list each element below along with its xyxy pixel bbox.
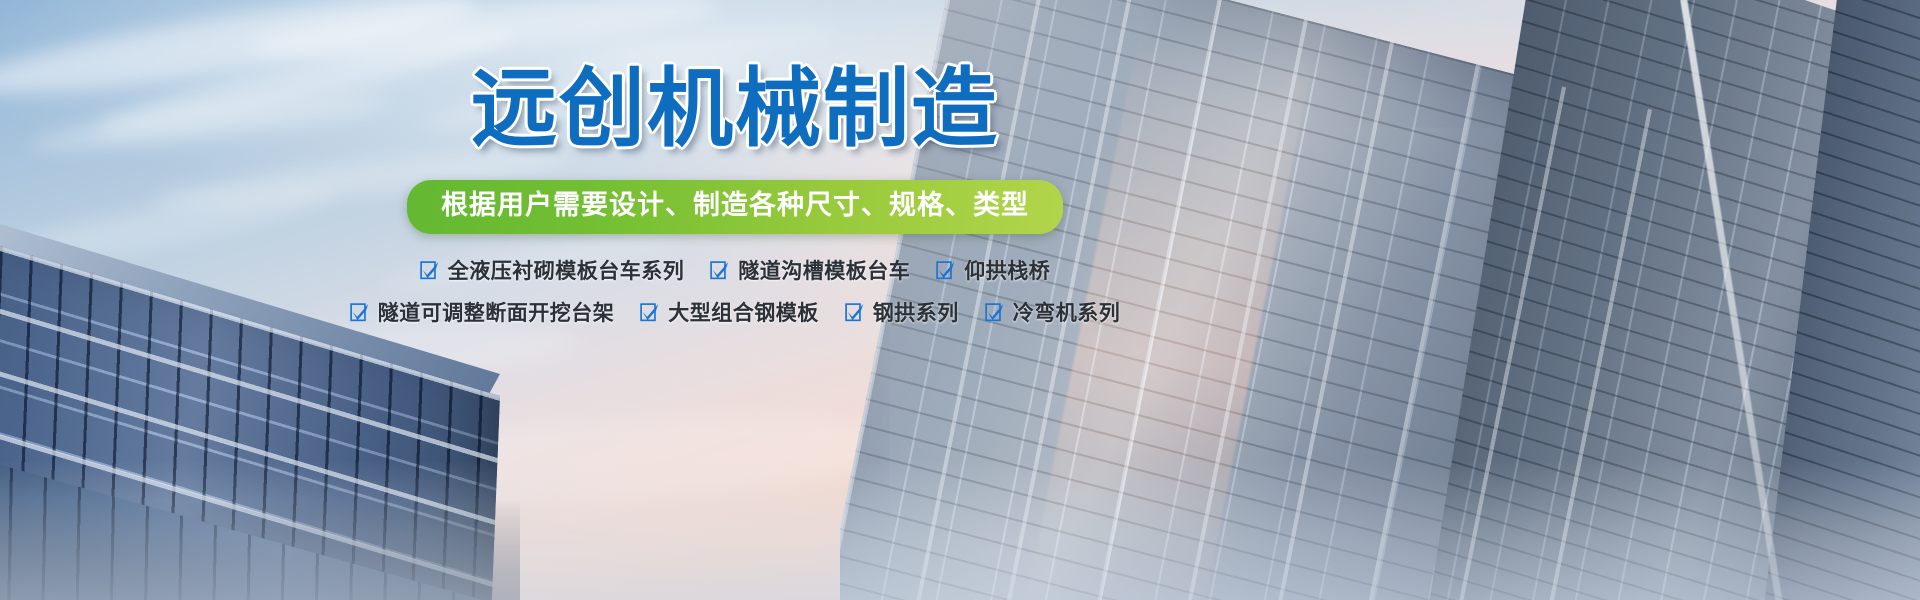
feature-item-label: 隧道沟槽模板台车 — [738, 255, 910, 285]
feature-item-label: 隧道可调整断面开挖台架 — [378, 297, 615, 327]
feature-item-label: 全液压衬砌模板台车系列 — [448, 255, 685, 285]
feature-item[interactable]: 隧道沟槽模板台车 — [710, 255, 910, 285]
checkbox-checked-icon — [420, 261, 439, 280]
feature-item[interactable]: 大型组合钢模板 — [640, 297, 819, 327]
feature-item[interactable]: 全液压衬砌模板台车系列 — [420, 255, 685, 285]
checkbox-checked-icon — [936, 261, 955, 280]
feature-item[interactable]: 仰拱栈桥 — [936, 255, 1050, 285]
banner-subtitle-container: 根据用户需要设计、制造各种尺寸、规格、类型 — [0, 180, 1470, 234]
feature-item-label: 仰拱栈桥 — [964, 255, 1050, 285]
checkbox-checked-icon — [350, 303, 369, 322]
feature-item-label: 大型组合钢模板 — [668, 297, 819, 327]
hero-banner: 远创机械制造 根据用户需要设计、制造各种尺寸、规格、类型 全液压衬砌模板台车系列 — [0, 0, 1920, 600]
checkbox-checked-icon — [845, 303, 864, 322]
feature-list: 全液压衬砌模板台车系列 隧道沟槽模板台车 仰拱栈桥 — [0, 255, 1470, 339]
banner-subtitle-pill: 根据用户需要设计、制造各种尺寸、规格、类型 — [407, 180, 1063, 234]
banner-content: 远创机械制造 根据用户需要设计、制造各种尺寸、规格、类型 全液压衬砌模板台车系列 — [0, 0, 1920, 600]
feature-item[interactable]: 钢拱系列 — [845, 297, 959, 327]
feature-item[interactable]: 冷弯机系列 — [985, 297, 1121, 327]
feature-item[interactable]: 隧道可调整断面开挖台架 — [350, 297, 615, 327]
feature-row-2: 隧道可调整断面开挖台架 大型组合钢模板 钢拱系列 — [0, 297, 1470, 327]
feature-row-1: 全液压衬砌模板台车系列 隧道沟槽模板台车 仰拱栈桥 — [0, 255, 1470, 285]
banner-title: 远创机械制造 — [0, 66, 1470, 152]
checkbox-checked-icon — [710, 261, 729, 280]
checkbox-checked-icon — [640, 303, 659, 322]
feature-item-label: 钢拱系列 — [873, 297, 959, 327]
checkbox-checked-icon — [985, 303, 1004, 322]
feature-item-label: 冷弯机系列 — [1013, 297, 1121, 327]
